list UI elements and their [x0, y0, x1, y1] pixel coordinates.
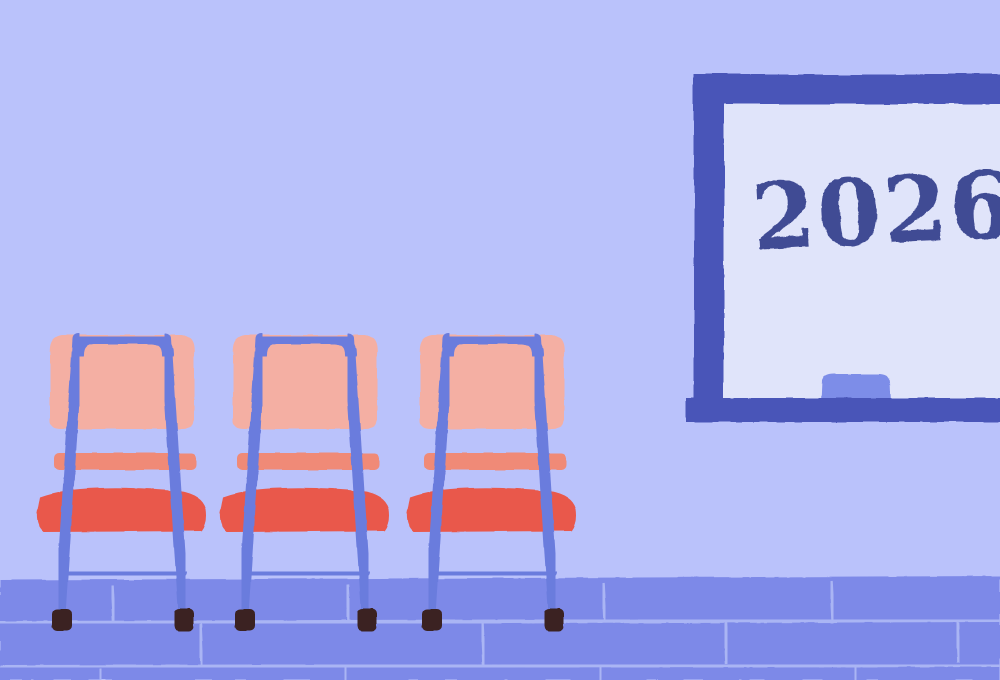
board-ledge [686, 398, 1000, 422]
tiled-floor [0, 576, 1000, 680]
floor-seam [100, 668, 101, 680]
floor-seam [603, 583, 605, 620]
whiteboard-text-2026: 2026 [748, 150, 1000, 272]
floor-seam [200, 624, 202, 666]
whiteboard[interactable]: 2026 [686, 74, 1000, 422]
whiteboard-year-text: 2026 [748, 150, 1000, 272]
floor-seam [345, 667, 346, 680]
floor-seam [855, 665, 856, 680]
classroom-illustration: 2026 [0, 0, 1000, 680]
floor-seam [957, 621, 959, 663]
eraser[interactable] [821, 374, 891, 402]
floor-seam [347, 584, 349, 621]
floor-seam [112, 585, 114, 622]
floor-seam [600, 666, 601, 680]
floor-grout-row-2 [0, 665, 1000, 667]
floor-seam [482, 623, 484, 665]
scene-canvas: 2026 [0, 0, 1000, 680]
floor-seam [831, 581, 833, 619]
floor-seam [725, 622, 727, 664]
